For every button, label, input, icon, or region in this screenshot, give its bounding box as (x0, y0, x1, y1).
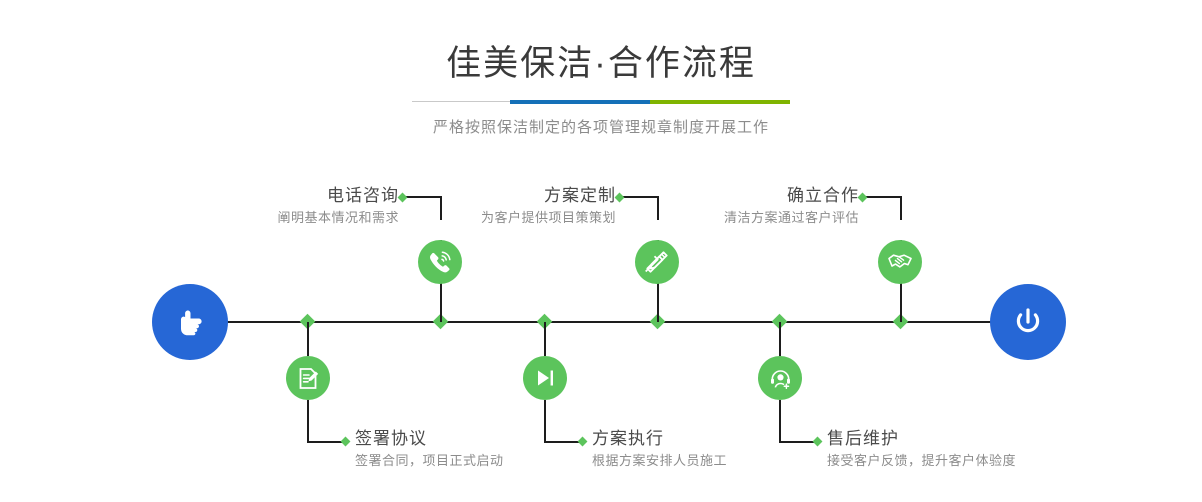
divider-blue-segment (510, 100, 650, 104)
step-title-3: 方案定制 (481, 186, 616, 206)
step-subtitle-2: 签署合同，项目正式启动 (355, 452, 504, 470)
flow-diagram: 佳美保洁·合作流程 严格按照保洁制定的各项管理规章制度开展工作 (0, 0, 1202, 502)
step-label-3: 方案定制 为客户提供项目策策划 (481, 186, 616, 227)
label-marker-step-4 (578, 437, 588, 447)
title-divider (412, 98, 790, 106)
step-subtitle-1: 阐明基本情况和需求 (277, 209, 399, 227)
step-title-1: 电话咨询 (277, 186, 399, 206)
connector-hline-step-4 (544, 441, 582, 443)
connector-vline-step-6 (779, 322, 781, 356)
pointing-hand-icon (170, 302, 210, 342)
connector-vline-bottom-step-6 (779, 400, 781, 442)
step-subtitle-3: 为客户提供项目策策划 (481, 209, 616, 227)
connector-vline-top-step-3 (657, 196, 659, 220)
connector-vline-top-step-1 (440, 196, 442, 220)
label-marker-step-3 (615, 193, 625, 203)
phone-call-icon (427, 249, 453, 275)
step-label-6: 售后维护 接受客户反馈，提升客户体验度 (827, 429, 1016, 470)
step-title-4: 方案执行 (592, 429, 727, 449)
step-label-5: 确立合作 清洁方案通过客户评估 (724, 186, 859, 227)
step-title-2: 签署协议 (355, 429, 504, 449)
pencil-design-icon (644, 249, 670, 275)
step-icon-sign-document[interactable] (286, 356, 330, 400)
connector-hline-step-3 (621, 196, 659, 198)
header: 佳美保洁·合作流程 严格按照保洁制定的各项管理规章制度开展工作 (0, 0, 1202, 137)
label-marker-step-2 (341, 437, 351, 447)
step-label-1: 电话咨询 阐明基本情况和需求 (277, 186, 399, 227)
handshake-icon (887, 249, 913, 275)
flow-start-node[interactable] (152, 284, 228, 360)
step-icon-handshake[interactable] (878, 240, 922, 284)
connector-vline-step-4 (544, 322, 546, 356)
flow-end-node[interactable] (990, 284, 1066, 360)
step-subtitle-5: 清洁方案通过客户评估 (724, 209, 859, 227)
page-subtitle: 严格按照保洁制定的各项管理规章制度开展工作 (0, 116, 1202, 137)
step-icon-pencil-design[interactable] (635, 240, 679, 284)
step-subtitle-6: 接受客户反馈，提升客户体验度 (827, 452, 1016, 470)
connector-vline-top-step-5 (900, 196, 902, 220)
connector-vline-bottom-step-2 (307, 400, 309, 442)
step-subtitle-4: 根据方案安排人员施工 (592, 452, 727, 470)
power-button-icon (1008, 302, 1048, 342)
step-title-5: 确立合作 (724, 186, 859, 206)
step-title-6: 售后维护 (827, 429, 1016, 449)
step-icon-phone-call[interactable] (418, 240, 462, 284)
step-label-2: 签署协议 签署合同，项目正式启动 (355, 429, 504, 470)
connector-hline-step-5 (864, 196, 902, 198)
label-marker-step-5 (858, 193, 868, 203)
label-marker-step-6 (813, 437, 823, 447)
connector-hline-step-6 (779, 441, 817, 443)
play-execute-icon (533, 366, 557, 390)
sign-document-icon (296, 366, 321, 391)
step-label-4: 方案执行 根据方案安排人员施工 (592, 429, 727, 470)
customer-service-icon (768, 366, 793, 391)
connector-vline-bottom-step-4 (544, 400, 546, 442)
page-title: 佳美保洁·合作流程 (0, 44, 1202, 84)
step-icon-customer-service[interactable] (758, 356, 802, 400)
step-icon-play-execute[interactable] (523, 356, 567, 400)
connector-hline-step-2 (307, 441, 345, 443)
divider-green-segment (650, 100, 790, 104)
connector-hline-step-1 (404, 196, 442, 198)
label-marker-step-1 (398, 193, 408, 203)
connector-vline-step-2 (307, 322, 309, 356)
